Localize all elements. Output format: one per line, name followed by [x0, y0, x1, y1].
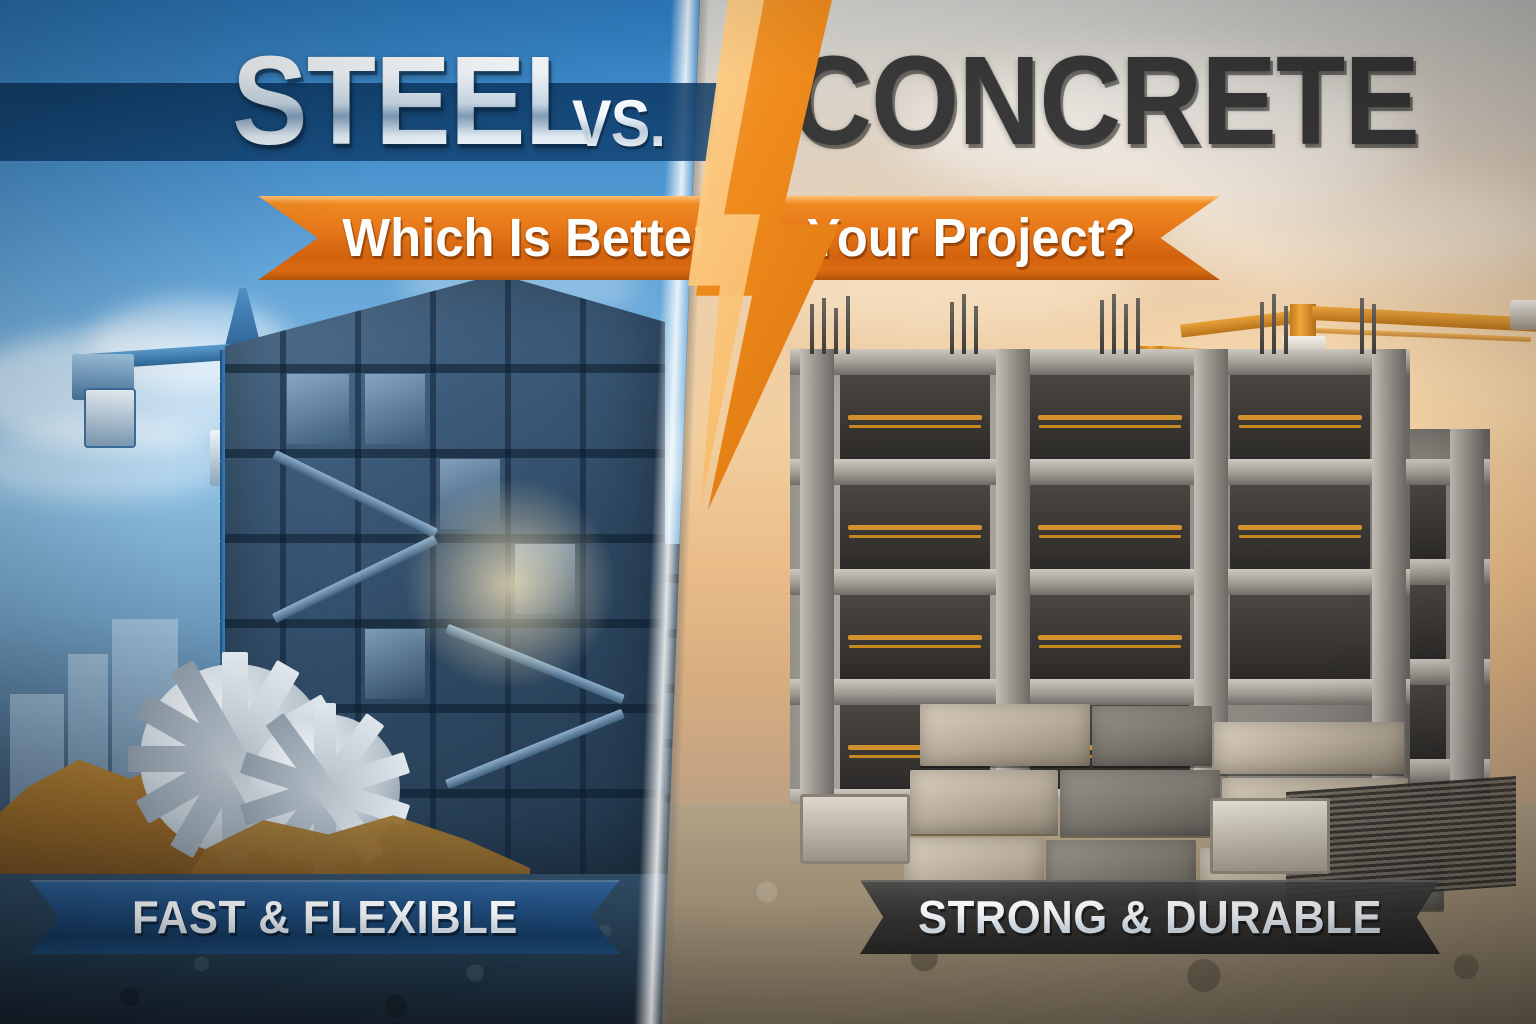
right-banner-label: STRONG & DURABLE: [875, 880, 1426, 954]
left-banner-label: FAST & FLEXIBLE: [45, 880, 606, 954]
rebar-group: [800, 294, 1400, 354]
poster-canvas: STEEL VS. CONCRETE Which Is Better for Y…: [0, 0, 1536, 1024]
left-feature-banner: FAST & FLEXIBLE: [30, 880, 620, 954]
title-concrete: CONCRETE: [790, 38, 1419, 164]
right-feature-banner: STRONG & DURABLE: [860, 880, 1440, 954]
title-steel: STEEL: [232, 38, 593, 164]
sun-glare: [400, 474, 620, 694]
site-equipment-box: [800, 794, 910, 864]
lightning-bolt-icon: [640, 0, 840, 510]
site-equipment-box: [1210, 798, 1330, 874]
